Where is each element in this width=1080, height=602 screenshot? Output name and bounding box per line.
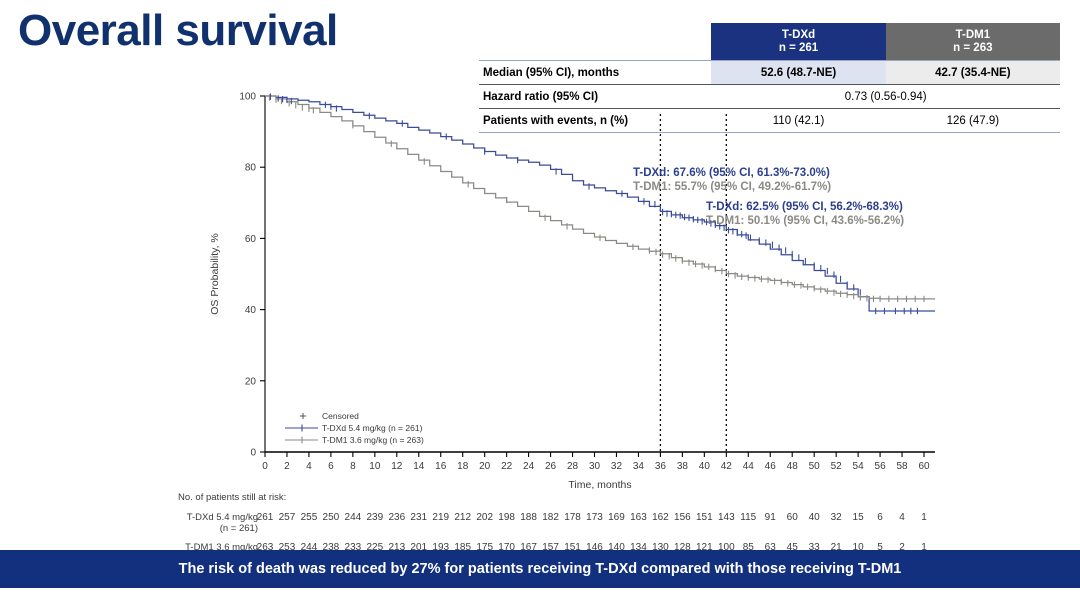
risk-value: 85 xyxy=(743,542,755,550)
risk-value: 134 xyxy=(630,542,647,550)
x-tick-label-0: 0 xyxy=(262,461,268,472)
risk-value: 151 xyxy=(696,512,713,523)
risk-value: 213 xyxy=(388,542,405,550)
risk-value: 33 xyxy=(809,542,821,550)
risk-value: 233 xyxy=(345,542,362,550)
x-tick-label-10: 10 xyxy=(369,461,381,472)
annotation-tdxd-42: T-DXd: 62.5% (95% CI, 56.2%-68.3%) xyxy=(706,201,903,213)
banner-text: The risk of death was reduced by 27% for… xyxy=(179,561,902,577)
risk-value: 255 xyxy=(301,512,318,523)
risk-value: 236 xyxy=(388,512,405,523)
risk-value: 40 xyxy=(809,512,821,523)
annotation-tdm1-36: T-DM1: 55.7% (95% CI, 49.2%-61.7%) xyxy=(633,181,831,193)
risk-value: 91 xyxy=(765,512,777,523)
x-tick-label-40: 40 xyxy=(699,461,711,472)
risk-value: 253 xyxy=(279,542,296,550)
summary-table-header-row: T-DXd n = 261 T-DM1 n = 263 xyxy=(479,23,1060,61)
x-tick-label-50: 50 xyxy=(809,461,821,472)
risk-value: 250 xyxy=(323,512,340,523)
risk-value: 151 xyxy=(564,542,581,550)
risk-value: 185 xyxy=(454,542,471,550)
x-tick-label-32: 32 xyxy=(611,461,623,472)
chart-annotations: T-DXd: 67.6% (95% CI, 61.3%-73.0%)T-DM1:… xyxy=(633,167,904,227)
risk-value: 201 xyxy=(410,542,427,550)
bottom-banner: The risk of death was reduced by 27% for… xyxy=(0,550,1080,588)
risk-value: 170 xyxy=(498,542,515,550)
x-tick-label-34: 34 xyxy=(633,461,645,472)
y-tick-label-0: 0 xyxy=(250,448,256,459)
risk-value: 219 xyxy=(432,512,449,523)
chart-legend: CensoredT-DXd 5.4 mg/kg (n = 261)T-DM1 3… xyxy=(285,411,424,445)
page-title: Overall survival xyxy=(18,6,338,56)
risk-table: No. of patients still at risk:T-DXd 5.4 … xyxy=(178,492,927,550)
risk-value: 178 xyxy=(564,512,581,523)
risk-value: 202 xyxy=(476,512,493,523)
x-tick-label-4: 4 xyxy=(306,461,312,472)
risk-value: 193 xyxy=(432,542,449,550)
risk-value: 121 xyxy=(696,542,713,550)
reference-lines xyxy=(660,114,726,452)
risk-value: 5 xyxy=(877,542,883,550)
risk-value: 238 xyxy=(323,542,340,550)
x-tick-label-6: 6 xyxy=(328,461,334,472)
risk-value: 32 xyxy=(831,512,843,523)
risk-value: 1 xyxy=(921,542,927,550)
y-axis-title: OS Probability, % xyxy=(209,233,221,315)
x-tick-label-54: 54 xyxy=(853,461,865,472)
risk-value: 15 xyxy=(853,512,865,523)
x-tick-label-26: 26 xyxy=(545,461,557,472)
summary-header-tdm1-n: n = 263 xyxy=(886,42,1060,55)
x-tick-label-14: 14 xyxy=(413,461,425,472)
risk-value: 63 xyxy=(765,542,777,550)
x-tick-label-24: 24 xyxy=(523,461,535,472)
risk-value: 167 xyxy=(520,542,537,550)
risk-row-sublabel-0: (n = 261) xyxy=(220,523,258,534)
risk-row-label-0: T-DXd 5.4 mg/kg xyxy=(187,512,258,523)
risk-value: 146 xyxy=(586,542,603,550)
risk-value: 239 xyxy=(366,512,383,523)
y-tick-label-60: 60 xyxy=(245,234,257,245)
x-tick-label-18: 18 xyxy=(457,461,469,472)
x-tick-label-42: 42 xyxy=(721,461,733,472)
risk-value: 173 xyxy=(586,512,603,523)
annotation-tdm1-42: T-DM1: 50.1% (95% CI, 43.6%-56.2%) xyxy=(706,215,904,227)
risk-value: 169 xyxy=(608,512,625,523)
y-axis: 020406080100OS Probability, % xyxy=(209,92,265,459)
risk-value: 163 xyxy=(630,512,647,523)
x-tick-label-44: 44 xyxy=(743,461,755,472)
risk-value: 156 xyxy=(674,512,691,523)
risk-value: 244 xyxy=(345,512,362,523)
risk-value: 263 xyxy=(257,542,274,550)
x-tick-label-22: 22 xyxy=(501,461,513,472)
risk-value: 60 xyxy=(787,512,799,523)
risk-value: 21 xyxy=(831,542,843,550)
risk-value: 198 xyxy=(498,512,515,523)
x-tick-label-28: 28 xyxy=(567,461,579,472)
x-tick-label-16: 16 xyxy=(435,461,447,472)
x-tick-label-8: 8 xyxy=(350,461,356,472)
x-tick-label-58: 58 xyxy=(896,461,908,472)
risk-value: 231 xyxy=(410,512,427,523)
risk-value: 45 xyxy=(787,542,799,550)
risk-value: 128 xyxy=(674,542,691,550)
risk-row-label-1: T-DM1 3.6 mg/kg xyxy=(185,542,258,550)
risk-value: 225 xyxy=(366,542,383,550)
x-tick-label-48: 48 xyxy=(787,461,799,472)
risk-table-heading: No. of patients still at risk: xyxy=(178,492,286,503)
censor-group-tdm1 xyxy=(269,94,924,302)
x-tick-label-36: 36 xyxy=(655,461,667,472)
km-plot-svg: 020406080100OS Probability, % 0246810121… xyxy=(0,80,1080,550)
x-axis: 0246810121416182022242628303234363840424… xyxy=(262,452,935,491)
risk-value: 244 xyxy=(301,542,318,550)
risk-value: 175 xyxy=(476,542,493,550)
risk-value: 10 xyxy=(853,542,865,550)
risk-value: 2 xyxy=(899,542,905,550)
summary-header-tdxd-n: n = 261 xyxy=(711,42,885,55)
x-tick-label-46: 46 xyxy=(765,461,777,472)
summary-header-tdm1: T-DM1 n = 263 xyxy=(886,23,1060,61)
risk-value: 130 xyxy=(652,542,669,550)
summary-table-corner-cell xyxy=(479,23,711,61)
risk-value: 212 xyxy=(454,512,471,523)
summary-header-tdm1-name: T-DM1 xyxy=(886,29,1060,42)
x-tick-label-2: 2 xyxy=(284,461,290,472)
x-axis-title: Time, months xyxy=(568,479,631,491)
y-tick-label-100: 100 xyxy=(239,92,256,103)
x-tick-label-56: 56 xyxy=(875,461,887,472)
x-tick-label-12: 12 xyxy=(391,461,403,472)
risk-value: 157 xyxy=(542,542,559,550)
y-tick-label-20: 20 xyxy=(245,376,257,387)
risk-value: 6 xyxy=(877,512,883,523)
legend-label-censored: Censored xyxy=(322,411,359,421)
risk-value: 182 xyxy=(542,512,559,523)
x-tick-label-20: 20 xyxy=(479,461,491,472)
summary-header-tdxd-name: T-DXd xyxy=(711,29,885,42)
risk-value: 143 xyxy=(718,512,735,523)
risk-value: 100 xyxy=(718,542,735,550)
legend-label-tdxd: T-DXd 5.4 mg/kg (n = 261) xyxy=(322,423,423,433)
summary-header-tdxd: T-DXd n = 261 xyxy=(711,23,885,61)
x-tick-label-30: 30 xyxy=(589,461,601,472)
km-chart: 020406080100OS Probability, % 0246810121… xyxy=(0,80,1080,550)
risk-value: 188 xyxy=(520,512,537,523)
annotation-tdxd-36: T-DXd: 67.6% (95% CI, 61.3%-73.0%) xyxy=(633,167,830,179)
risk-value: 1 xyxy=(921,512,927,523)
y-tick-label-40: 40 xyxy=(245,305,257,316)
curve-tdm1 xyxy=(265,96,935,299)
risk-value: 162 xyxy=(652,512,669,523)
x-tick-label-60: 60 xyxy=(918,461,930,472)
risk-value: 257 xyxy=(279,512,296,523)
risk-value: 115 xyxy=(740,512,756,523)
risk-value: 4 xyxy=(899,512,905,523)
x-tick-label-52: 52 xyxy=(831,461,843,472)
risk-value: 261 xyxy=(257,512,274,523)
y-tick-label-80: 80 xyxy=(245,163,257,174)
legend-label-tdm1: T-DM1 3.6 mg/kg (n = 263) xyxy=(322,435,424,445)
risk-value: 140 xyxy=(608,542,625,550)
x-tick-label-38: 38 xyxy=(677,461,689,472)
